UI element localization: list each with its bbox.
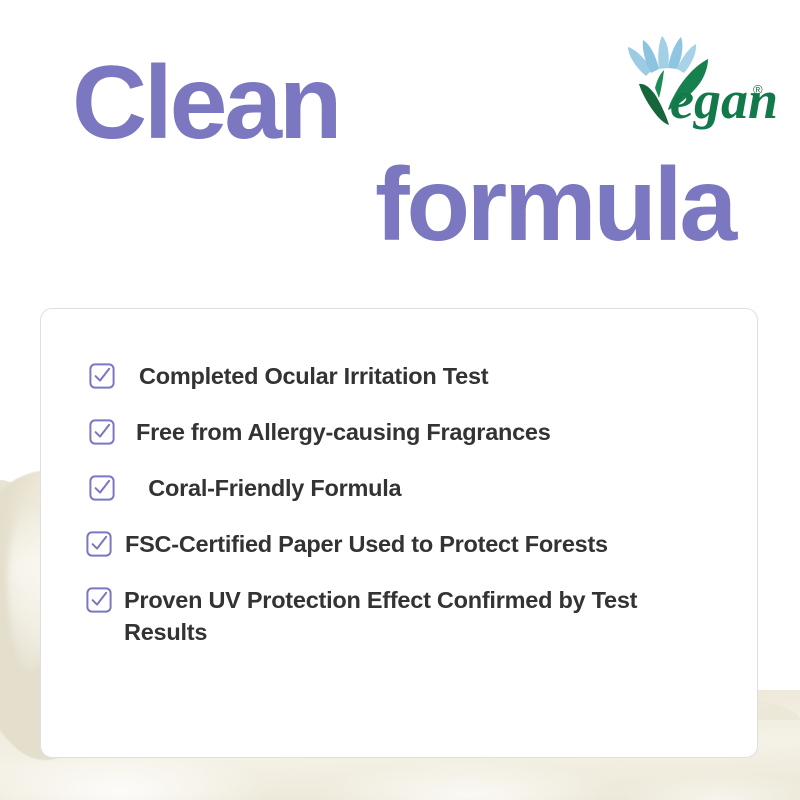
- headline-line-2: formula: [72, 156, 742, 256]
- list-item: Free from Allergy-causing Fragrances: [41, 417, 759, 449]
- checkbox-checked-icon[interactable]: [89, 419, 115, 445]
- list-item-label: Completed Ocular Irritation Test: [139, 361, 488, 393]
- feature-card: Completed Ocular Irritation Test Free fr…: [40, 308, 758, 758]
- list-item: Proven UV Protection Effect Confirmed by…: [41, 585, 759, 649]
- list-item-label: Proven UV Protection Effect Confirmed by…: [124, 585, 724, 649]
- claims-checklist: Completed Ocular Irritation Test Free fr…: [41, 361, 759, 649]
- checkbox-checked-icon[interactable]: [89, 363, 115, 389]
- vegan-badge: egan ®: [612, 32, 778, 130]
- list-item-label: Free from Allergy-causing Fragrances: [136, 417, 551, 449]
- list-item: FSC-Certified Paper Used to Protect Fore…: [41, 529, 759, 561]
- checkbox-checked-icon[interactable]: [86, 587, 112, 613]
- vegan-wordmark: egan: [670, 70, 778, 130]
- vegan-trademark-symbol: ®: [753, 82, 763, 97]
- list-item-label: FSC-Certified Paper Used to Protect Fore…: [125, 529, 608, 561]
- checkbox-checked-icon[interactable]: [89, 475, 115, 501]
- list-item-label: Coral-Friendly Formula: [142, 473, 401, 505]
- list-item: Completed Ocular Irritation Test: [41, 361, 759, 393]
- checkbox-checked-icon[interactable]: [86, 531, 112, 557]
- marketing-graphic: Clean formula egan ®: [0, 0, 800, 800]
- list-item: Coral-Friendly Formula: [41, 473, 759, 505]
